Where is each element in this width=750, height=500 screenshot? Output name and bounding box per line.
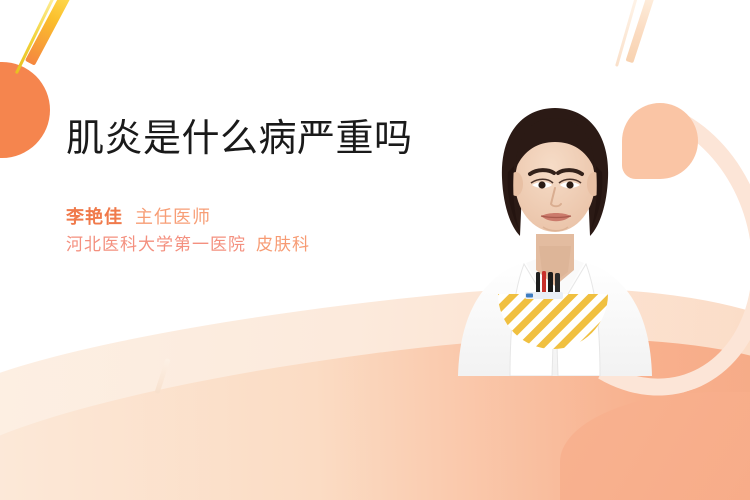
doctor-department: 皮肤科 xyxy=(256,235,310,254)
streak-orange-thick-icon xyxy=(25,0,74,66)
pens-icon xyxy=(536,271,560,294)
streak-pale-bottom-icon xyxy=(155,358,171,394)
orange-circle-decoration xyxy=(0,62,50,158)
doctor-name: 李艳佳 xyxy=(66,207,123,227)
doctor-affiliation-line: 河北医科大学第一医院皮肤科 xyxy=(66,231,426,259)
wave-accent-shape xyxy=(560,392,750,500)
doctor-meta: 李艳佳主任医师 河北医科大学第一医院皮肤科 xyxy=(66,203,426,259)
streak-yellow-thin-icon xyxy=(15,0,56,74)
streak-pale-thick-icon xyxy=(626,0,659,63)
streak-pale-thin-icon xyxy=(615,0,640,67)
doctor-identity-line: 李艳佳主任医师 xyxy=(66,203,426,232)
doctor-portrait xyxy=(440,86,670,376)
doctor-job-title: 主任医师 xyxy=(135,207,211,227)
text-block: 肌炎是什么病严重吗 李艳佳主任医师 河北医科大学第一医院皮肤科 xyxy=(66,118,426,259)
doctor-info-card: 肌炎是什么病严重吗 李艳佳主任医师 河北医科大学第一医院皮肤科 xyxy=(0,0,750,500)
doctor-hospital: 河北医科大学第一医院 xyxy=(66,235,246,254)
page-title: 肌炎是什么病严重吗 xyxy=(66,118,426,161)
